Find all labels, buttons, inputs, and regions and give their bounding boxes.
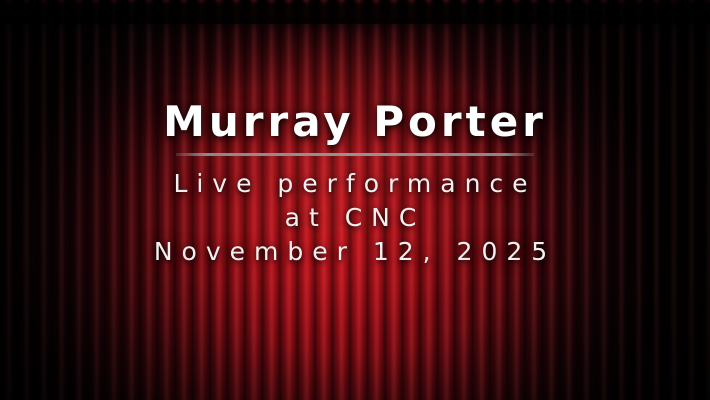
title-text-block: Murray Porter Live performance at CNC No… <box>0 0 710 400</box>
subtitle-group: Live performance at CNC November 12, 202… <box>154 156 556 268</box>
subtitle-line-2: at CNC <box>154 201 556 235</box>
title-slide: Murray Porter Live performance at CNC No… <box>0 0 710 400</box>
subtitle-line-1: Live performance <box>154 167 556 201</box>
subtitle-line-3: November 12, 2025 <box>154 235 556 269</box>
page-title: Murray Porter <box>163 0 547 144</box>
